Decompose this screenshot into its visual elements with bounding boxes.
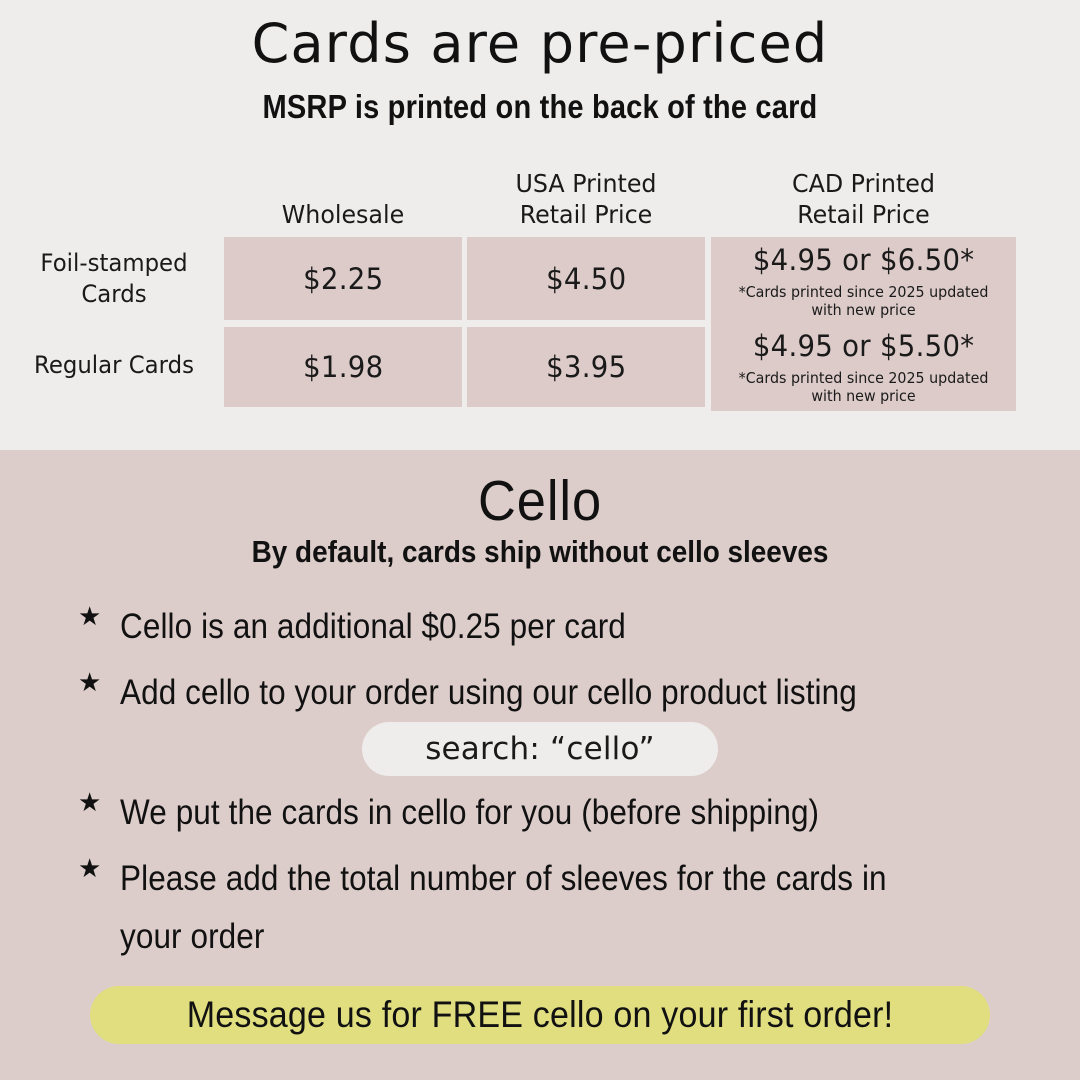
- price-value: $4.95 or $5.50*: [753, 329, 974, 363]
- table-cell-regular-cad-retail: $4.95 or $5.50* *Cards printed since 202…: [711, 323, 1016, 411]
- column-header-line1: Wholesale: [230, 200, 456, 231]
- cello-title: Cello: [43, 468, 1037, 534]
- row-label-line1: Regular Cards: [15, 350, 213, 381]
- price-footnote-line1: *Cards printed since 2025 updated: [739, 369, 989, 387]
- star-icon: ★: [78, 850, 120, 888]
- table-cell-regular-wholesale: $1.98: [224, 327, 462, 407]
- column-header-line2: Retail Price: [473, 200, 699, 231]
- column-header-wholesale: Wholesale: [230, 200, 456, 231]
- column-header-usa-retail: USA Printed Retail Price: [473, 169, 699, 230]
- list-item-label: Please add the total number of sleeves f…: [120, 850, 946, 966]
- infographic-page: Cards are pre-priced MSRP is printed on …: [0, 0, 1080, 1080]
- page-title: Cards are pre-priced: [0, 12, 1080, 76]
- row-label-line2: Cards: [15, 279, 213, 310]
- list-item-label: Cello is an additional $0.25 per card: [120, 598, 946, 656]
- table-cell-foil-cad-retail: $4.95 or $6.50* *Cards printed since 202…: [711, 237, 1016, 325]
- pricing-section: Cards are pre-priced MSRP is printed on …: [0, 0, 1080, 450]
- column-header-line2: Retail Price: [719, 200, 1009, 231]
- price-footnote: *Cards printed since 2025 updated with n…: [739, 369, 989, 406]
- star-icon: ★: [78, 664, 120, 702]
- cta-label: Message us for FREE cello on your first …: [187, 994, 894, 1036]
- column-header-line1: CAD Printed: [719, 169, 1009, 200]
- row-label-foil-stamped: Foil-stamped Cards: [15, 248, 213, 310]
- price-value: $4.50: [546, 262, 626, 296]
- row-label-line1: Foil-stamped: [15, 248, 213, 279]
- table-cell-foil-wholesale: $2.25: [224, 237, 462, 320]
- price-value: $2.25: [303, 262, 383, 296]
- table-cell-foil-usa-retail: $4.50: [467, 237, 705, 320]
- cello-subtitle: By default, cards ship without cello sle…: [54, 534, 1026, 570]
- star-icon: ★: [78, 598, 120, 636]
- price-value: $1.98: [303, 350, 383, 384]
- page-subtitle: MSRP is printed on the back of the card: [65, 88, 1015, 126]
- table-column-headers: Wholesale USA Printed Retail Price CAD P…: [0, 160, 1080, 238]
- price-footnote-line2: with new price: [811, 301, 915, 319]
- price-footnote-line1: *Cards printed since 2025 updated: [739, 283, 989, 301]
- list-item-label: Add cello to your order using our cello …: [120, 664, 946, 722]
- price-value: $4.95 or $6.50*: [753, 243, 974, 277]
- list-item: ★ We put the cards in cello for you (bef…: [78, 784, 1038, 842]
- price-value: $3.95: [546, 350, 626, 384]
- column-header-line1: USA Printed: [473, 169, 699, 200]
- list-item: ★ Add cello to your order using our cell…: [78, 664, 1038, 722]
- list-item: ★ Please add the total number of sleeves…: [78, 850, 1038, 966]
- list-item-label: We put the cards in cello for you (befor…: [120, 784, 946, 842]
- cta-banner[interactable]: Message us for FREE cello on your first …: [90, 986, 990, 1044]
- price-footnote-line2: with new price: [811, 387, 915, 405]
- list-item: ★ Cello is an additional $0.25 per card: [78, 598, 1038, 656]
- star-icon: ★: [78, 784, 120, 822]
- table-cell-regular-usa-retail: $3.95: [467, 327, 705, 407]
- cello-bullet-list: ★ Cello is an additional $0.25 per card …: [78, 598, 1038, 974]
- row-label-regular: Regular Cards: [15, 350, 213, 381]
- column-header-cad-retail: CAD Printed Retail Price: [719, 169, 1009, 230]
- search-hint-label: search: “cello”: [425, 731, 655, 767]
- price-footnote: *Cards printed since 2025 updated with n…: [739, 283, 989, 320]
- search-hint-pill[interactable]: search: “cello”: [362, 722, 718, 776]
